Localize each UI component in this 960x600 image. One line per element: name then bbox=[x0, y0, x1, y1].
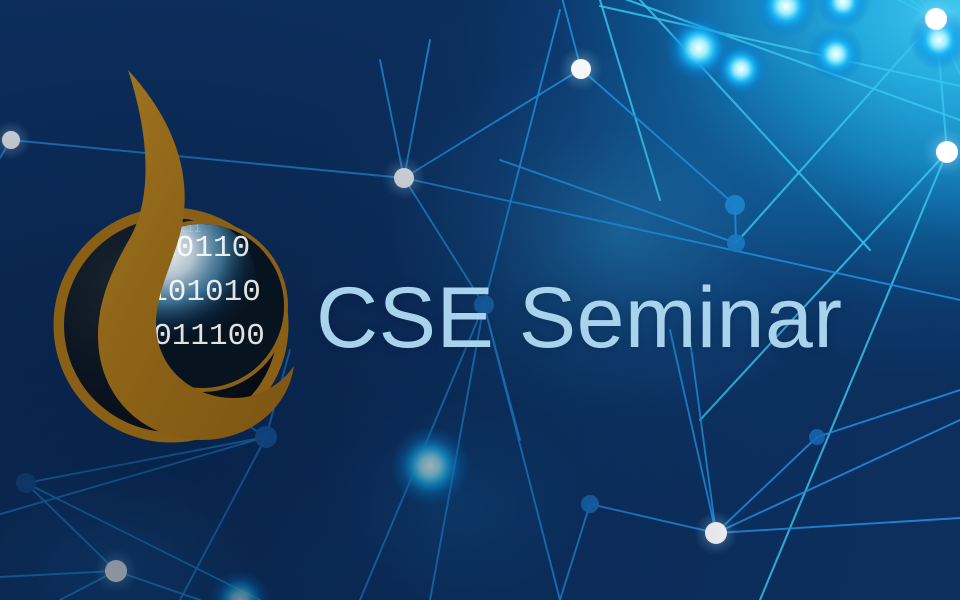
cse-logo: 1 10 10 010 010. 01010 1010110 0010 bbox=[50, 48, 320, 448]
cse-seminar-banner: 1 10 10 010 010. 01010 1010110 0010 bbox=[0, 0, 960, 600]
flame-binary-sphere-icon: 1 10 10 010 010. 01010 1010110 0010 bbox=[50, 48, 320, 448]
page-title: CSE Seminar bbox=[316, 275, 842, 361]
svg-text:01010: 01010 bbox=[131, 443, 214, 448]
